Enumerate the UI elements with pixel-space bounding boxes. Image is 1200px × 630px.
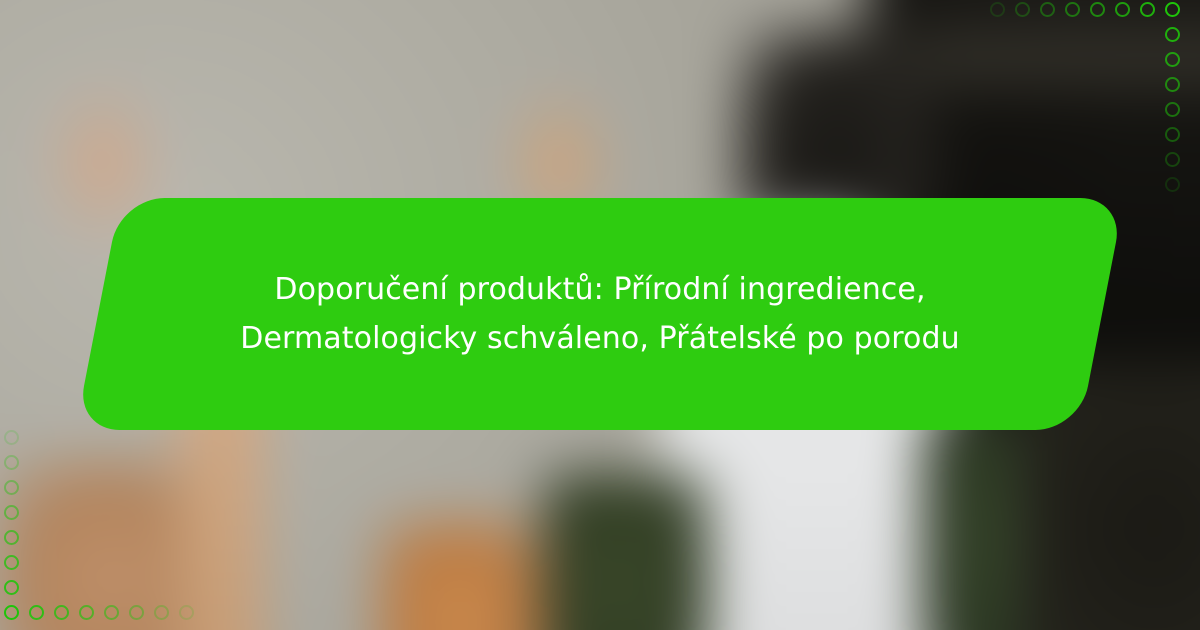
circle-outline-icon bbox=[1165, 77, 1180, 92]
circle-outline-icon bbox=[154, 605, 169, 620]
banner-headline-line-2: Dermatologicky schváleno, Přátelské po p… bbox=[240, 321, 959, 356]
circle-outline-icon bbox=[129, 605, 144, 620]
circle-outline-icon bbox=[4, 580, 19, 595]
circle-outline-icon bbox=[1165, 102, 1180, 117]
circle-outline-icon bbox=[990, 2, 1005, 17]
circle-outline-icon bbox=[1165, 52, 1180, 67]
circle-outline-icon bbox=[4, 605, 19, 620]
circle-outline-icon bbox=[79, 605, 94, 620]
decorative-dots-top-right bbox=[990, 2, 1200, 212]
circle-outline-icon bbox=[1165, 152, 1180, 167]
circle-outline-icon bbox=[1165, 127, 1180, 142]
headline-banner: Doporučení produktů: Přírodní ingredienc… bbox=[98, 198, 1102, 430]
circle-outline-icon bbox=[104, 605, 119, 620]
circle-outline-icon bbox=[1090, 2, 1105, 17]
circle-outline-icon bbox=[4, 480, 19, 495]
background-wood-basket bbox=[376, 522, 544, 630]
circle-outline-icon bbox=[4, 505, 19, 520]
circle-outline-icon bbox=[1165, 27, 1180, 42]
background-foliage-left bbox=[544, 474, 712, 630]
circle-outline-icon bbox=[179, 605, 194, 620]
circle-outline-icon bbox=[29, 605, 44, 620]
circle-outline-icon bbox=[1115, 2, 1130, 17]
circle-outline-icon bbox=[4, 555, 19, 570]
circle-outline-icon bbox=[1040, 2, 1055, 17]
circle-outline-icon bbox=[1065, 2, 1080, 17]
circle-outline-icon bbox=[4, 530, 19, 545]
circle-outline-icon bbox=[1165, 2, 1180, 17]
circle-outline-icon bbox=[1165, 177, 1180, 192]
circle-outline-icon bbox=[1140, 2, 1155, 17]
circle-outline-icon bbox=[54, 605, 69, 620]
circle-outline-icon bbox=[4, 430, 19, 445]
circle-outline-icon bbox=[4, 455, 19, 470]
promotional-banner-card: Doporučení produktů: Přírodní ingredienc… bbox=[0, 0, 1200, 630]
banner-text-block: Doporučení produktů: Přírodní ingredienc… bbox=[98, 198, 1102, 430]
banner-headline-line-1: Doporučení produktů: Přírodní ingredienc… bbox=[274, 272, 925, 307]
circle-outline-icon bbox=[1015, 2, 1030, 17]
decorative-dots-bottom-left bbox=[4, 430, 214, 630]
